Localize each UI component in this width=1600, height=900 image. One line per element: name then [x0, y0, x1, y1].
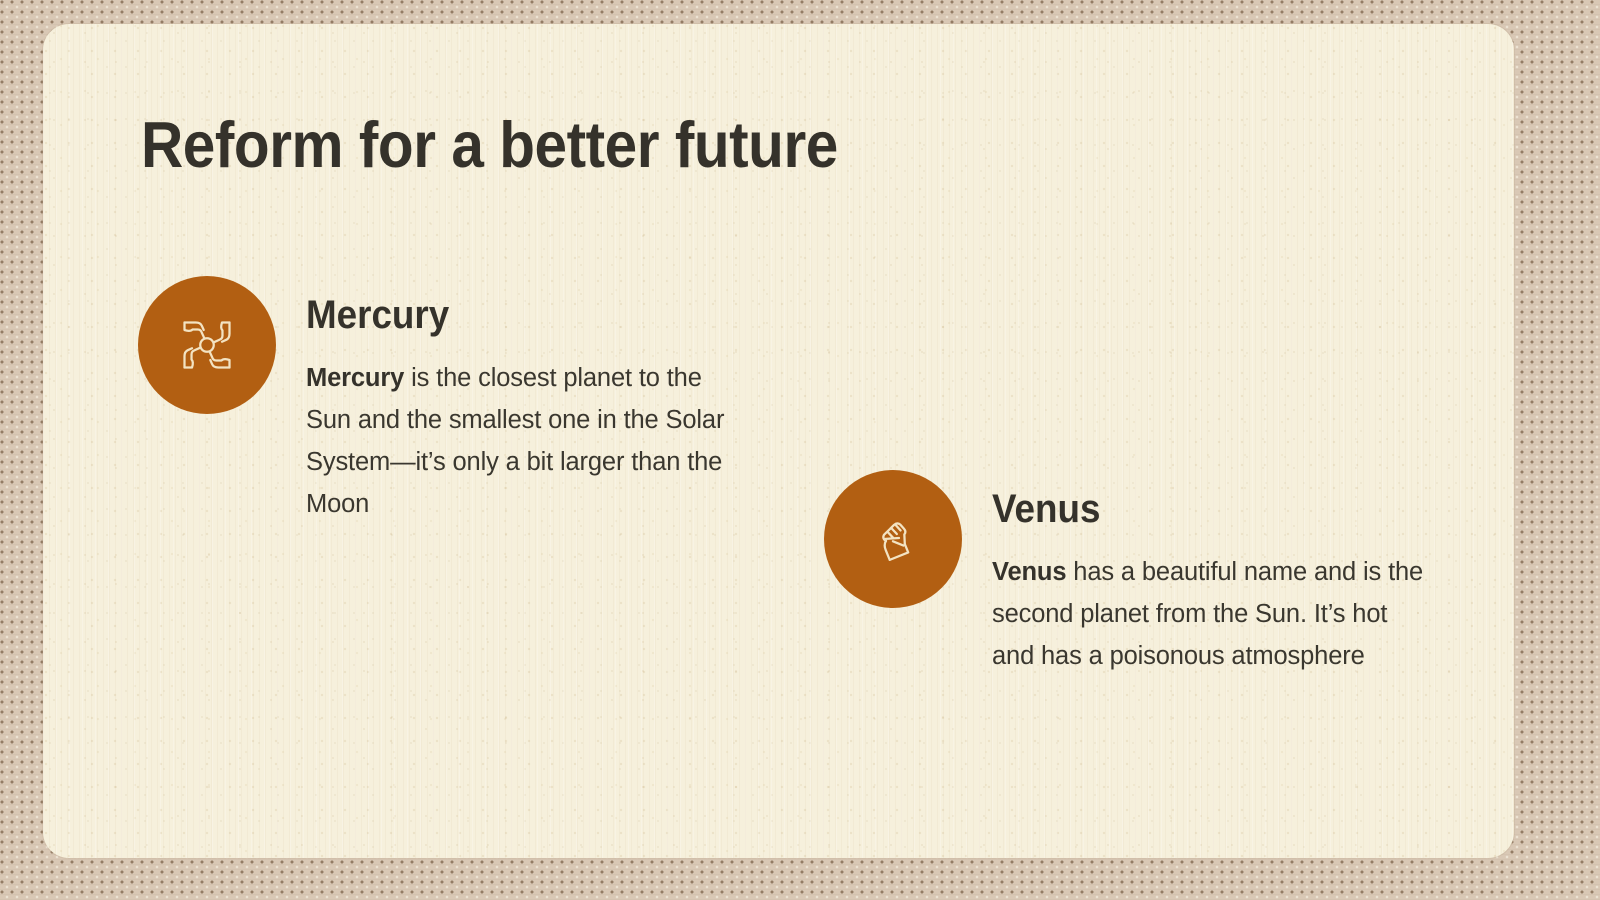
- feature-venus-lead: Venus: [992, 558, 1066, 586]
- teamwork-hands-icon: [177, 315, 237, 375]
- feature-venus-title: Venus: [992, 488, 1397, 530]
- feature-mercury-icon-badge: [138, 276, 276, 414]
- feature-mercury-body: Mercury is the closest planet to the Sun…: [306, 357, 746, 525]
- feature-venus-text: Venus Venus has a beautiful name and is …: [962, 470, 1432, 677]
- feature-mercury-text: Mercury Mercury is the closest planet to…: [276, 276, 746, 525]
- feature-venus-body: Venus has a beautiful name and is the se…: [992, 551, 1432, 677]
- feature-mercury: Mercury Mercury is the closest planet to…: [138, 276, 746, 525]
- feature-mercury-lead: Mercury: [306, 364, 404, 392]
- raised-fist-icon: [864, 510, 922, 568]
- feature-mercury-title: Mercury: [306, 294, 711, 336]
- feature-venus: Venus Venus has a beautiful name and is …: [824, 470, 1432, 677]
- slide-card: Reform for a better future: [43, 24, 1514, 858]
- feature-venus-icon-badge: [824, 470, 962, 608]
- page-title: Reform for a better future: [141, 107, 838, 182]
